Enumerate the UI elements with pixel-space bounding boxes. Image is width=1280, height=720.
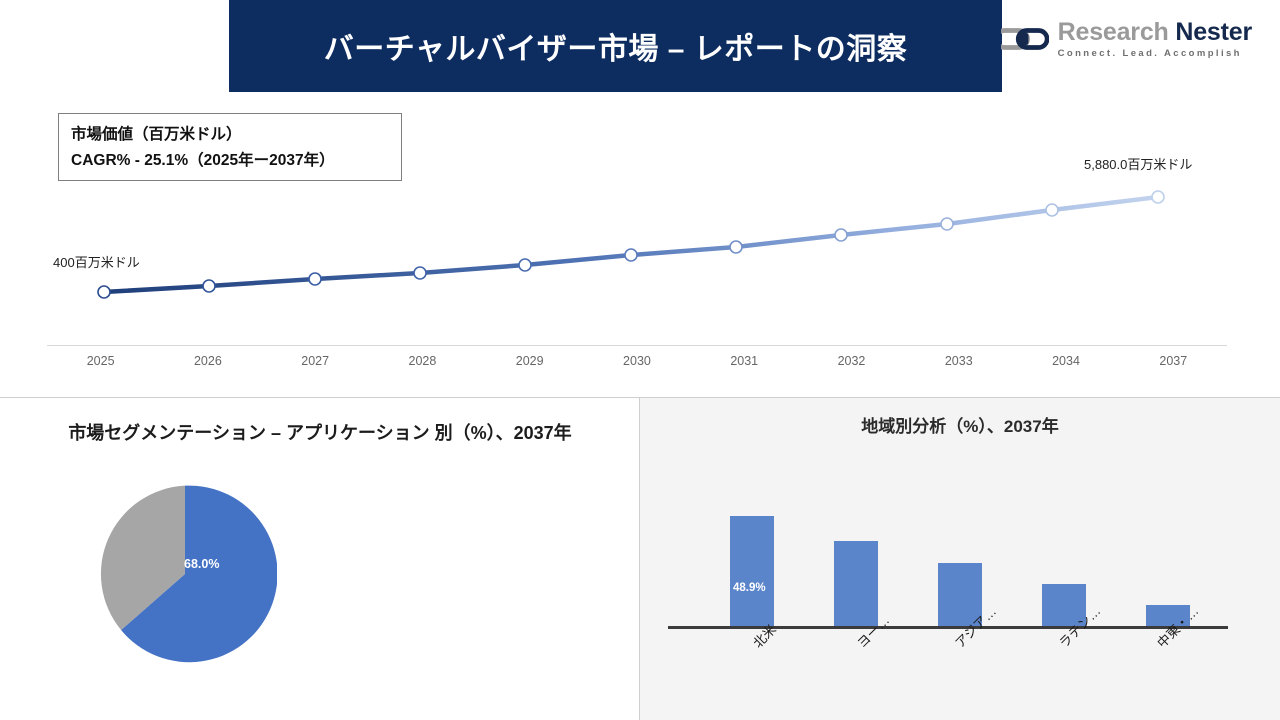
market-value-line-chart-panel: 市場価値（百万米ドル） CAGR% - 25.1%（2025年ー2037年）	[0, 92, 1280, 397]
interlocking-links-icon	[1001, 22, 1049, 56]
pie-title-line2: 別（%）、2037年	[435, 423, 572, 443]
logo-text: Research Nester Connect. Lead. Accomplis…	[1058, 20, 1252, 59]
bar-chart-title: 地域別分析（%）、2037年	[640, 412, 1280, 437]
x-tick-2037: 2037	[1120, 354, 1227, 368]
bar-slot-asia	[908, 470, 1012, 628]
x-tick-2027: 2027	[262, 354, 369, 368]
x-tick-2029: 2029	[476, 354, 583, 368]
bar-slot-latin-america	[1012, 470, 1116, 628]
x-axis-tick-labels: 2025 2026 2027 2028 2029 2030 2031 2032 …	[47, 354, 1227, 368]
bar-north-america[interactable]: 48.9%	[730, 516, 774, 628]
x-tick-2026: 2026	[154, 354, 261, 368]
bar-europe[interactable]	[834, 541, 878, 628]
header-band: バーチャルバイザー市場 – レポートの洞察	[229, 0, 1002, 92]
line-start-value-label: 400百万米ドル	[53, 252, 140, 271]
x-tick-2033: 2033	[905, 354, 1012, 368]
bar-x-axis-labels: 北米 ヨー… アジア… ラテン… 中東・…	[700, 630, 1220, 700]
page-title: バーチャルバイザー市場 – レポートの洞察	[324, 24, 908, 68]
bar-slot-north-america: 48.9%	[700, 470, 804, 628]
x-tick-2028: 2028	[369, 354, 476, 368]
pie-chart-graphic	[93, 482, 277, 666]
x-tick-2030: 2030	[583, 354, 690, 368]
line-end-value-label: 5,880.0百万米ドル	[1084, 154, 1192, 173]
bar-slot-europe	[804, 470, 908, 628]
report-infographic-page: バーチャルバイザー市場 – レポートの洞察 Research Nester Co…	[0, 0, 1280, 720]
x-tick-2025: 2025	[47, 354, 154, 368]
pie-chart-title: 市場セグメンテーション – アプリケーション 別（%）、2037年	[40, 416, 600, 450]
pie-title-line1: 市場セグメンテーション – アプリケーション	[68, 423, 429, 443]
application-segmentation-panel: 市場セグメンテーション – アプリケーション 別（%）、2037年 68.0% …	[0, 398, 639, 720]
x-tick-2034: 2034	[1012, 354, 1119, 368]
line-chart-graphic	[0, 92, 1280, 397]
pie-data-label: 68.0%	[184, 557, 219, 571]
x-tick-2032: 2032	[798, 354, 905, 368]
brand-logo: Research Nester Connect. Lead. Accomplis…	[1001, 20, 1252, 59]
logo-name-second: Nester	[1175, 18, 1252, 46]
bar-group: 48.9%	[700, 470, 1220, 628]
bar-slot-middle-east	[1116, 470, 1220, 628]
logo-name: Research Nester	[1058, 20, 1252, 45]
bar-chart-graphic: 48.9%	[700, 468, 1220, 628]
logo-tagline: Connect. Lead. Accomplish	[1058, 49, 1252, 59]
logo-name-first: Research	[1058, 18, 1169, 46]
bar-chart-baseline	[668, 626, 1228, 629]
x-axis-line	[47, 345, 1227, 346]
regional-analysis-panel: 地域別分析（%）、2037年 48.9%	[640, 398, 1280, 720]
x-tick-2031: 2031	[691, 354, 798, 368]
bar-data-label-north-america: 48.9%	[733, 582, 766, 594]
